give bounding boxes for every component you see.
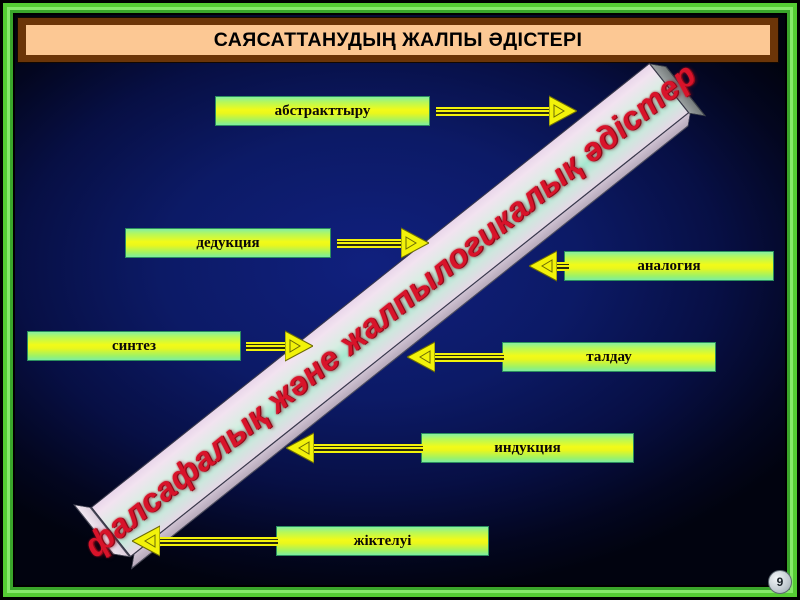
arrow-shaft: [436, 107, 549, 116]
arrow-left-zhikteluy: [132, 524, 278, 558]
node-box-induktsiya[interactable]: индукция: [421, 433, 634, 463]
page-number-text: 9: [777, 575, 784, 589]
diagonal-banner-container: фалсафалық және жалпылогикалық әдістер: [15, 60, 785, 570]
arrow-left-induktsiya: [286, 431, 423, 465]
node-label-induktsiya: индукция: [494, 440, 560, 457]
arrow-left-taldau: [407, 340, 504, 374]
banner-label: фалсафалық және жалпылогикалық әдістер: [77, 55, 704, 565]
arrow-shaft: [246, 342, 285, 351]
arrow-head-right-icon: [549, 94, 577, 128]
banner-face: фалсафалық және жалпылогикалық әдістер: [91, 63, 690, 558]
arrow-shaft: [314, 444, 423, 453]
arrow-right-deduktsiya: [337, 226, 429, 260]
node-label-analogiya: аналогия: [637, 258, 700, 275]
arrow-head-left-icon: [529, 249, 557, 283]
arrow-head-right-icon: [401, 226, 429, 260]
slide-canvas: САЯСАТТАНУДЫҢ ЖАЛПЫ ӘДІСТЕРІ фалсафалық …: [0, 0, 800, 600]
node-box-zhikteluy[interactable]: жіктелуі: [276, 526, 489, 556]
page-title: САЯСАТТАНУДЫҢ ЖАЛПЫ ӘДІСТЕРІ: [214, 29, 583, 52]
arrow-head-left-icon: [132, 524, 160, 558]
node-label-deduktsiya: дедукция: [196, 235, 259, 252]
arrow-head-left-icon: [286, 431, 314, 465]
banner-right-cap: [649, 63, 707, 116]
slide-title-inner: САЯСАТТАНУДЫҢ ЖАЛПЫ ӘДІСТЕРІ: [26, 25, 770, 55]
arrow-right-abstrakttyru: [436, 94, 577, 128]
node-box-analogiya[interactable]: аналогия: [564, 251, 774, 281]
banner-left-cap: [73, 504, 131, 557]
slide-title-plate: САЯСАТТАНУДЫҢ ЖАЛПЫ ӘДІСТЕРІ: [17, 17, 779, 63]
arrow-shaft: [557, 262, 569, 271]
arrow-head-left-icon: [407, 340, 435, 374]
arrow-shaft: [160, 537, 278, 546]
node-label-abstrakttyru: абстракттыру: [275, 103, 371, 120]
slide-stage: САЯСАТТАНУДЫҢ ЖАЛПЫ ӘДІСТЕРІ фалсафалық …: [15, 15, 785, 585]
arrow-shaft: [435, 353, 504, 362]
arrow-shaft: [337, 239, 401, 248]
arrow-head-right-icon: [285, 329, 313, 363]
node-box-deduktsiya[interactable]: дедукция: [125, 228, 331, 258]
node-label-sintez: синтез: [112, 338, 156, 355]
node-box-taldau[interactable]: талдау: [502, 342, 716, 372]
page-number-badge: 9: [768, 570, 792, 594]
node-label-zhikteluy: жіктелуі: [354, 533, 412, 550]
diagonal-banner: фалсафалық және жалпылогикалық әдістер: [91, 63, 690, 558]
node-box-abstrakttyru[interactable]: абстракттыру: [215, 96, 430, 126]
node-box-sintez[interactable]: синтез: [27, 331, 241, 361]
arrow-right-sintez: [246, 329, 313, 363]
node-label-taldau: талдау: [586, 349, 631, 366]
arrow-left-analogiya: [529, 249, 569, 283]
